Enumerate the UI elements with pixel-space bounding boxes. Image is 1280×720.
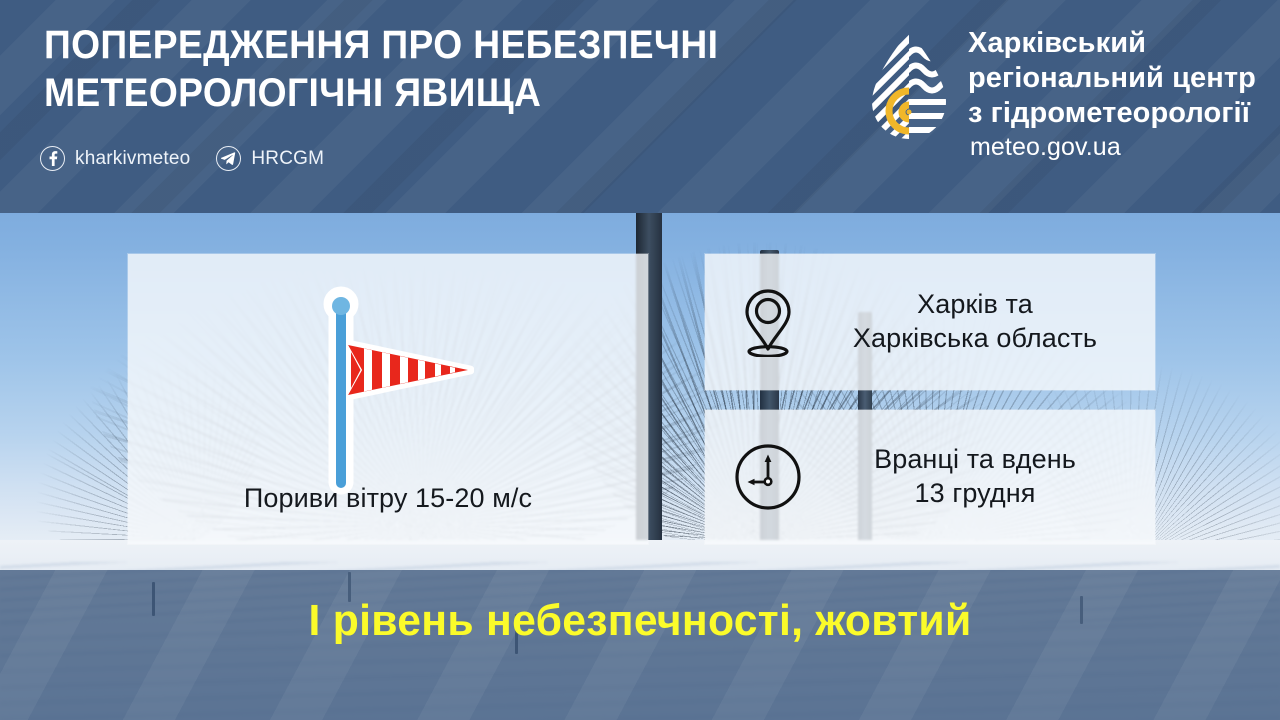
time-text: Вранці та вдень 13 грудня: [819, 443, 1137, 511]
wind-info-panel: Пориви вітру 15-20 м/с: [128, 254, 648, 544]
time-line-2: 13 грудня: [819, 477, 1131, 511]
time-info-panel: Вранці та вдень 13 грудня: [705, 410, 1155, 544]
social-link-facebook[interactable]: kharkivmeteo: [40, 146, 190, 171]
page-title: ПОПЕРЕДЖЕННЯ ПРО НЕБЕЗПЕЧНІ МЕТЕОРОЛОГІЧ…: [44, 22, 779, 117]
page-title-line-2: МЕТЕОРОЛОГІЧНІ ЯВИЩА: [44, 70, 779, 118]
logo-text-block: Харківський регіональний центр з гідроме…: [968, 26, 1256, 163]
logo-line-2: регіональний центр: [968, 61, 1256, 96]
water-droplet-radar-logo-icon: [866, 30, 952, 142]
telegram-handle: HRCGM: [251, 148, 324, 170]
location-line-2: Харківська область: [819, 322, 1131, 356]
telegram-icon: [216, 146, 241, 171]
organization-logo: Харківський регіональний центр з гідроме…: [866, 26, 1256, 163]
warning-level-band: І рівень небезпечності, жовтий: [0, 570, 1280, 720]
clock-icon: [733, 442, 803, 512]
infographic-root: ПОПЕРЕДЖЕННЯ ПРО НЕБЕЗПЕЧНІ МЕТЕОРОЛОГІЧ…: [0, 0, 1280, 720]
logo-website[interactable]: meteo.gov.ua: [968, 132, 1256, 163]
location-line-1: Харків та: [819, 288, 1131, 322]
location-info-panel: Харків та Харківська область: [705, 254, 1155, 390]
social-link-telegram[interactable]: HRCGM: [216, 146, 324, 171]
header-bar: ПОПЕРЕДЖЕННЯ ПРО НЕБЕЗПЕЧНІ МЕТЕОРОЛОГІЧ…: [0, 0, 1280, 213]
map-pin-icon: [741, 287, 795, 357]
windsock-icon: [302, 282, 474, 497]
facebook-handle: kharkivmeteo: [75, 148, 190, 170]
facebook-icon: [40, 146, 65, 171]
map-pin-icon-wrap: [731, 287, 805, 357]
logo-line-1: Харківський: [968, 26, 1256, 61]
warning-level-text: І рівень небезпечності, жовтий: [19, 596, 1261, 646]
page-title-line-1: ПОПЕРЕДЖЕННЯ ПРО НЕБЕЗПЕЧНІ: [44, 22, 779, 70]
location-text: Харків та Харківська область: [819, 288, 1137, 356]
time-line-1: Вранці та вдень: [819, 443, 1131, 477]
social-links: kharkivmeteo HRCGM: [40, 146, 324, 171]
logo-line-3: з гідрометеорології: [968, 96, 1256, 131]
wind-caption: Пориви вітру 15-20 м/с: [128, 483, 648, 514]
clock-icon-wrap: [731, 442, 805, 512]
